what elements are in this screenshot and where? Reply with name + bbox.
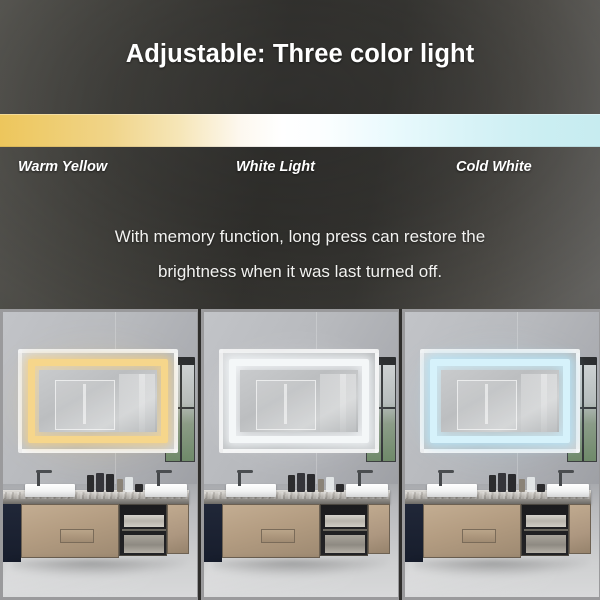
bottle xyxy=(106,474,114,492)
bottle xyxy=(318,479,324,492)
mirror-reflection xyxy=(39,370,157,432)
faucet-left xyxy=(37,472,40,486)
mirror-reflection xyxy=(240,370,358,432)
reflection-window xyxy=(139,374,155,432)
shelf-divider xyxy=(524,529,568,531)
faucet-left xyxy=(439,472,442,486)
vanity-shadow xyxy=(212,560,388,576)
folded-towels-bottom xyxy=(526,535,566,553)
bottle xyxy=(288,475,295,492)
vanity-drawer xyxy=(423,504,521,558)
bottle xyxy=(125,477,133,492)
panel-cold-white xyxy=(399,309,600,600)
folded-towels-top xyxy=(526,515,566,527)
folded-towels-top xyxy=(124,515,164,527)
bottle xyxy=(519,479,525,492)
panel-warm-yellow xyxy=(0,309,198,600)
banner-section: Adjustable: Three color light Warm Yello… xyxy=(0,0,600,309)
bathroom-scene-warm xyxy=(3,312,197,597)
label-cold-white: Cold White xyxy=(456,159,532,175)
reflection-window xyxy=(340,374,356,432)
reflection-shower-bar xyxy=(284,384,287,424)
open-shelf xyxy=(521,504,569,556)
vanity-shadow xyxy=(11,560,187,576)
led-mirror-warm xyxy=(18,349,178,453)
bottle xyxy=(498,473,506,492)
spectrum-label-row: Warm Yellow White Light Cold White xyxy=(0,159,600,181)
bottle xyxy=(508,474,516,492)
color-temperature-gradient-bar xyxy=(0,114,600,147)
panel-white-light xyxy=(198,309,399,600)
shelf-divider xyxy=(323,529,367,531)
toiletry-bottles xyxy=(489,470,545,492)
drawer-handle xyxy=(261,529,295,543)
faucet-right xyxy=(559,472,562,486)
bottle xyxy=(307,474,315,492)
bathroom-scene-cold xyxy=(405,312,599,597)
bottle xyxy=(87,475,94,492)
vanity-drawer xyxy=(222,504,320,558)
vanity-cabinet xyxy=(204,504,390,562)
description-line-2: brightness when it was last turned off. xyxy=(50,254,550,289)
reflection-window xyxy=(541,374,557,432)
product-infographic: Adjustable: Three color light Warm Yello… xyxy=(0,0,600,600)
bathroom-scene-white xyxy=(204,312,398,597)
page-title: Adjustable: Three color light xyxy=(0,40,600,69)
mirror-reflection xyxy=(441,370,559,432)
bottle xyxy=(326,477,334,492)
sink-right xyxy=(547,484,589,497)
faucet-right xyxy=(157,472,160,486)
drawer-handle xyxy=(462,529,496,543)
window-mullion-vertical xyxy=(180,363,182,461)
shelf-divider xyxy=(122,529,166,531)
bottle xyxy=(537,484,545,492)
description-line-1: With memory function, long press can res… xyxy=(50,219,550,254)
photo-panel-row xyxy=(0,309,600,600)
window-mullion-vertical xyxy=(381,363,383,461)
bottle xyxy=(297,473,305,492)
vanity-cabinet xyxy=(3,504,189,562)
toiletry-bottles xyxy=(288,470,344,492)
vanity-side-panel xyxy=(405,504,423,562)
memory-function-description: With memory function, long press can res… xyxy=(50,219,550,289)
reflection-shower-bar xyxy=(83,384,86,424)
sink-right xyxy=(145,484,187,497)
sink-left xyxy=(25,484,75,497)
bottle xyxy=(117,479,123,492)
window-mullion-vertical xyxy=(582,363,584,461)
bottle xyxy=(336,484,344,492)
sink-left xyxy=(427,484,477,497)
toiletry-bottles xyxy=(87,470,143,492)
vanity-side-cabinet xyxy=(368,504,390,554)
label-white-light: White Light xyxy=(236,159,315,175)
bottle xyxy=(489,475,496,492)
led-mirror-cold xyxy=(420,349,580,453)
vanity-drawer xyxy=(21,504,119,558)
vanity-side-cabinet xyxy=(167,504,189,554)
vanity-side-cabinet xyxy=(569,504,591,554)
faucet-left xyxy=(238,472,241,486)
vanity-side-panel xyxy=(204,504,222,562)
bottle xyxy=(135,484,143,492)
vanity-side-panel xyxy=(3,504,21,562)
open-shelf xyxy=(119,504,167,556)
bottle xyxy=(527,477,535,492)
sink-right xyxy=(346,484,388,497)
folded-towels-bottom xyxy=(325,535,365,553)
reflection-shower-bar xyxy=(485,384,488,424)
led-mirror-white xyxy=(219,349,379,453)
folded-towels-top xyxy=(325,515,365,527)
open-shelf xyxy=(320,504,368,556)
faucet-right xyxy=(358,472,361,486)
drawer-handle xyxy=(60,529,94,543)
bottle xyxy=(96,473,104,492)
vanity-shadow xyxy=(413,560,589,576)
sink-left xyxy=(226,484,276,497)
vanity-cabinet xyxy=(405,504,591,562)
label-warm-yellow: Warm Yellow xyxy=(18,159,107,175)
folded-towels-bottom xyxy=(124,535,164,553)
